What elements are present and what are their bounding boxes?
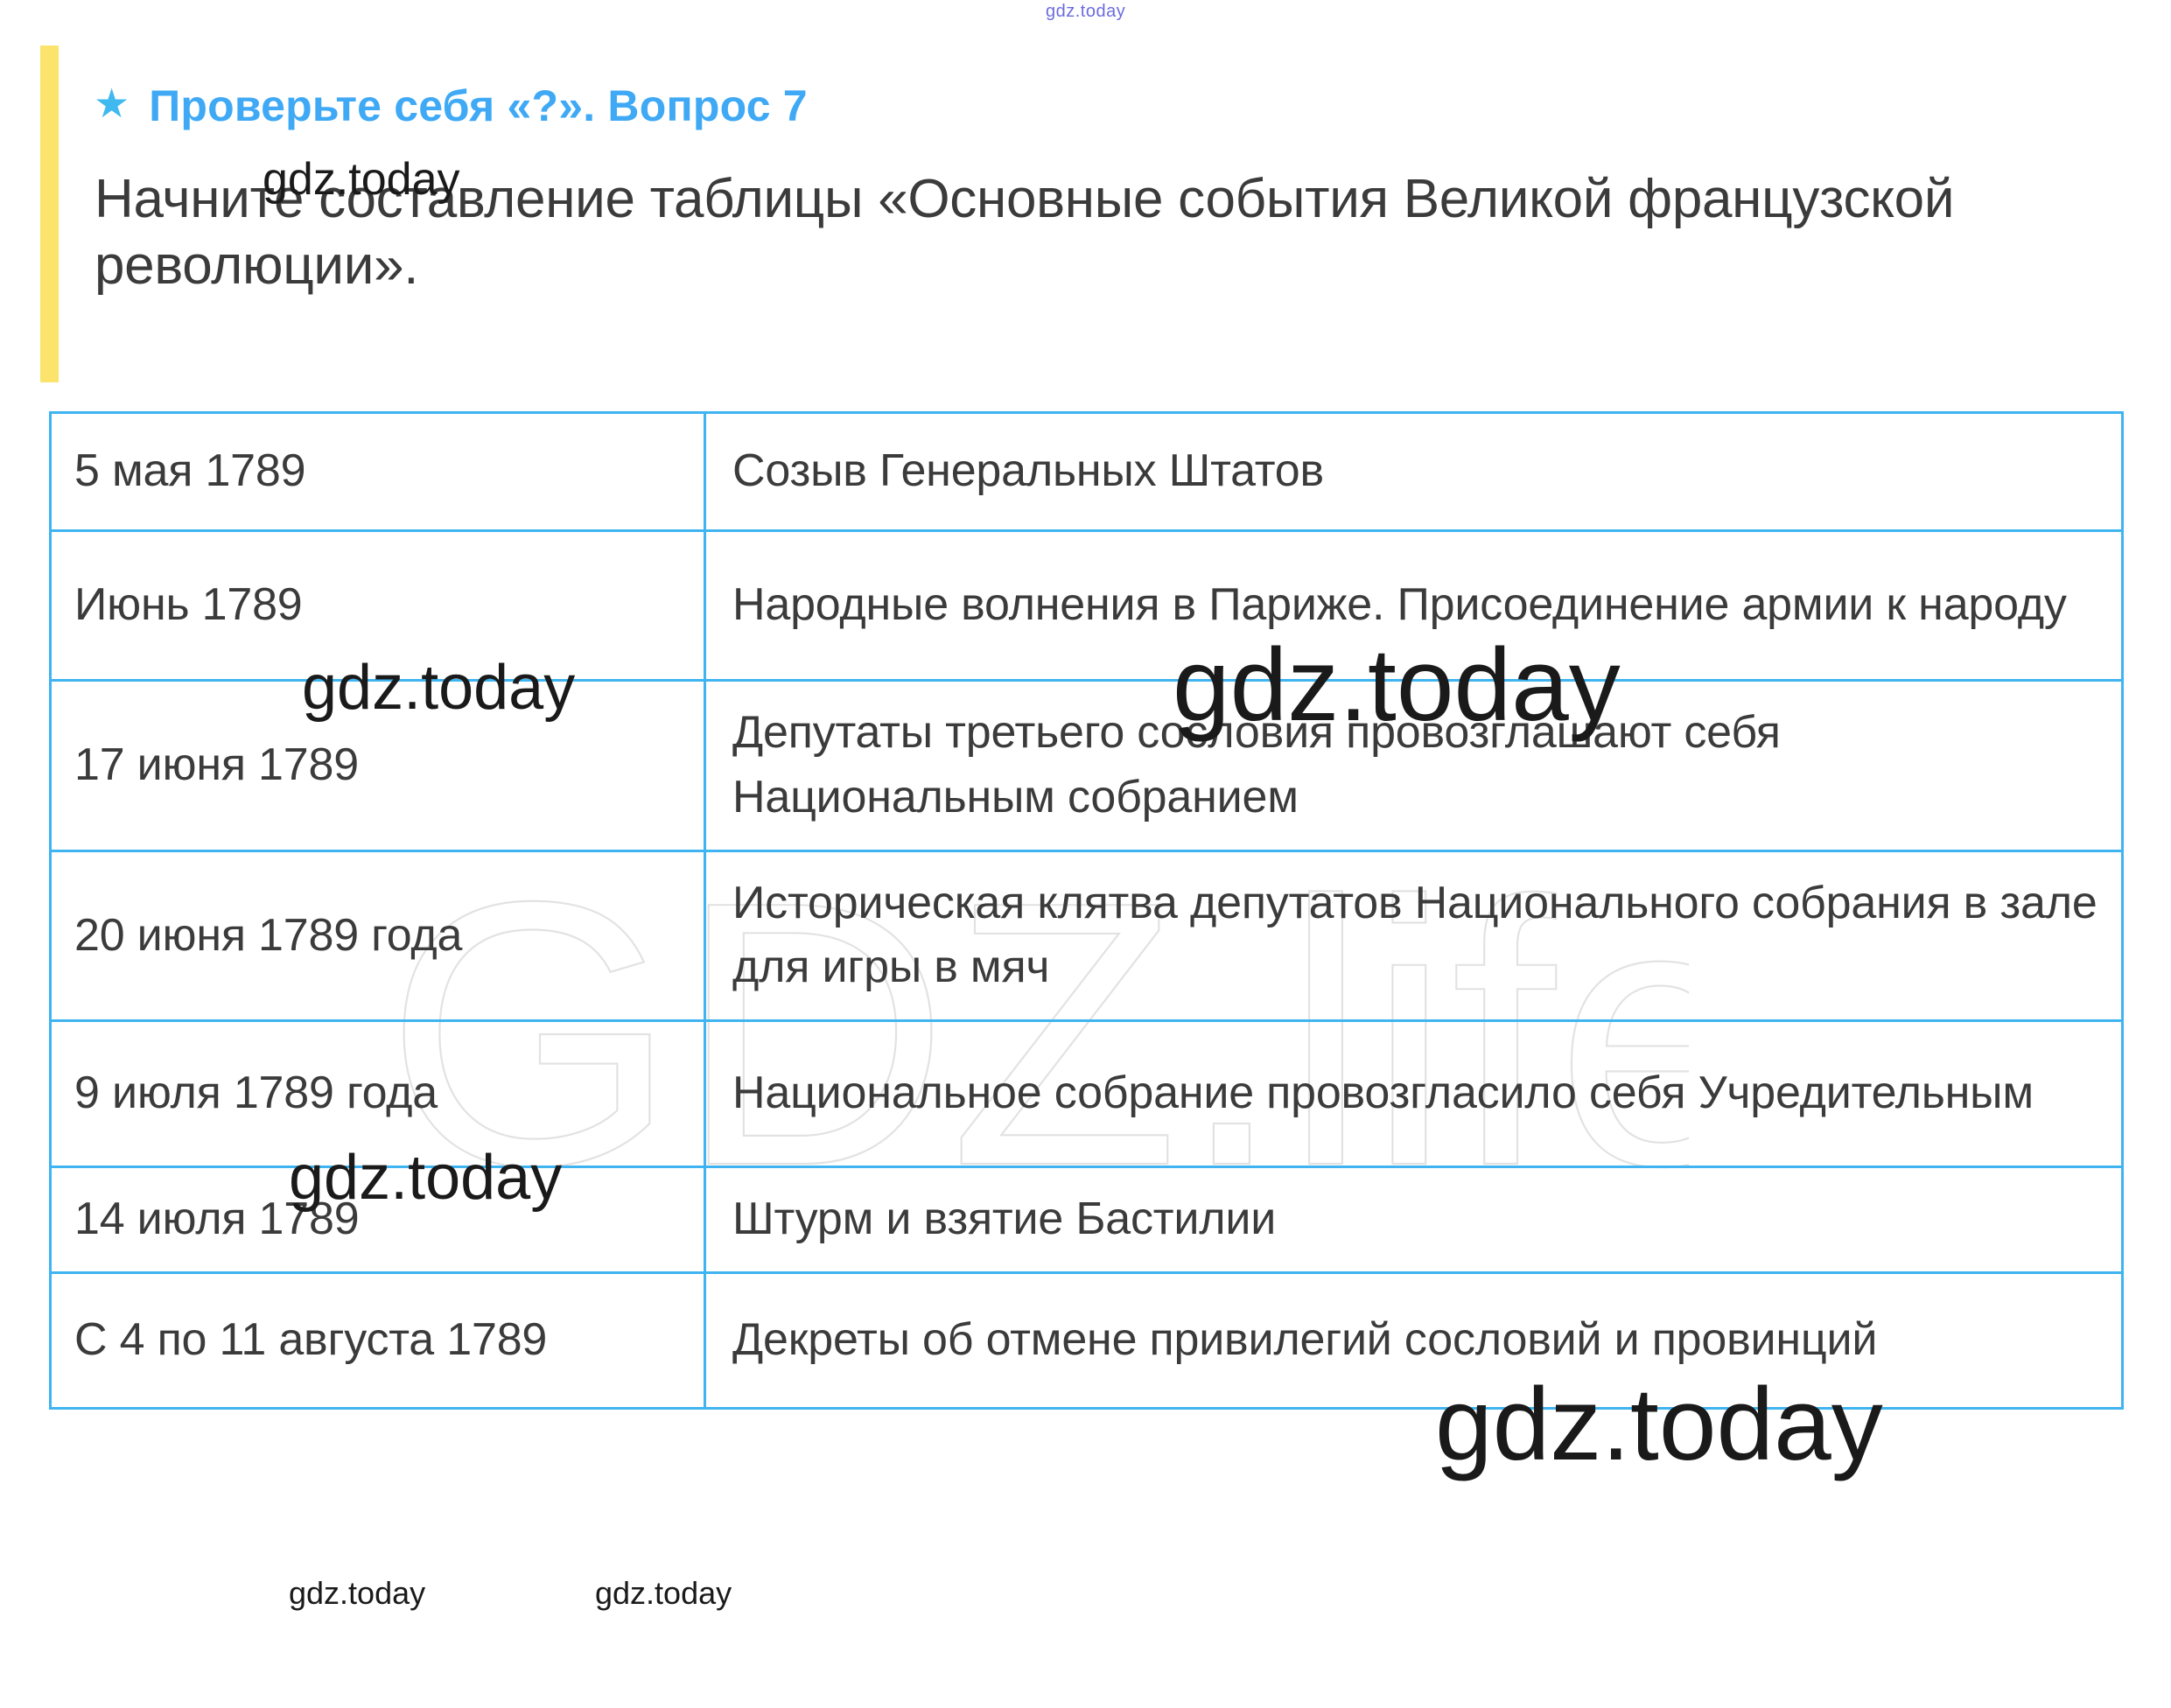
- star-icon: ★: [94, 83, 130, 123]
- table-cell-event: Народные волнения в Париже. Присоединени…: [705, 531, 2123, 681]
- table-row: 9 июля 1789 года Национальное собрание п…: [51, 1021, 2123, 1167]
- question-text: Начните составление таблицы «Основные со…: [95, 166, 2098, 298]
- table-row: С 4 по 11 августа 1789 Декреты об отмене…: [51, 1273, 2123, 1409]
- table-row: 5 мая 1789 Созыв Генеральных Штатов: [51, 413, 2123, 531]
- accent-bar: [40, 45, 59, 382]
- table-cell-event: Национальное собрание провозгласило себя…: [705, 1021, 2123, 1167]
- table-cell-event: Созыв Генеральных Штатов: [705, 413, 2123, 531]
- table-row: 14 июля 1789 Штурм и взятие Бастилии: [51, 1167, 2123, 1273]
- table-cell-date: 17 июня 1789: [51, 681, 705, 851]
- table-row: 20 июня 1789 года Историческая клятва де…: [51, 850, 2123, 1021]
- table-cell-date: 14 июля 1789: [51, 1167, 705, 1273]
- question-label-text: Проверьте себя «?». Вопрос 7: [149, 80, 808, 131]
- table-cell-event: Депутаты третьего сословия провозглашают…: [705, 681, 2123, 851]
- watermark-overlay: gdz.today: [595, 1575, 732, 1612]
- table-cell-date: С 4 по 11 августа 1789: [51, 1273, 705, 1409]
- table-cell-date: 9 июля 1789 года: [51, 1021, 705, 1167]
- watermark-overlay: gdz.today: [289, 1575, 425, 1612]
- table-row: Июнь 1789 Народные волнения в Париже. Пр…: [51, 531, 2123, 681]
- table-cell-date: 5 мая 1789: [51, 413, 705, 531]
- table-row: 17 июня 1789 Депутаты третьего сословия …: [51, 681, 2123, 851]
- table-cell-event: Штурм и взятие Бастилии: [705, 1167, 2123, 1273]
- question-header: ★ Проверьте себя «?». Вопрос 7 Начните с…: [0, 0, 2171, 385]
- table-cell-date: Июнь 1789: [51, 531, 705, 681]
- table-cell-date: 20 июня 1789 года: [51, 850, 705, 1021]
- events-table-body: 5 мая 1789 Созыв Генеральных Штатов Июнь…: [51, 413, 2123, 1409]
- events-table: 5 мая 1789 Созыв Генеральных Штатов Июнь…: [49, 411, 2124, 1410]
- question-label: ★ Проверьте себя «?». Вопрос 7: [94, 80, 808, 131]
- table-cell-event: Историческая клятва депутатов Национальн…: [705, 850, 2123, 1021]
- table-cell-event: Декреты об отмене привилегий сословий и …: [705, 1273, 2123, 1409]
